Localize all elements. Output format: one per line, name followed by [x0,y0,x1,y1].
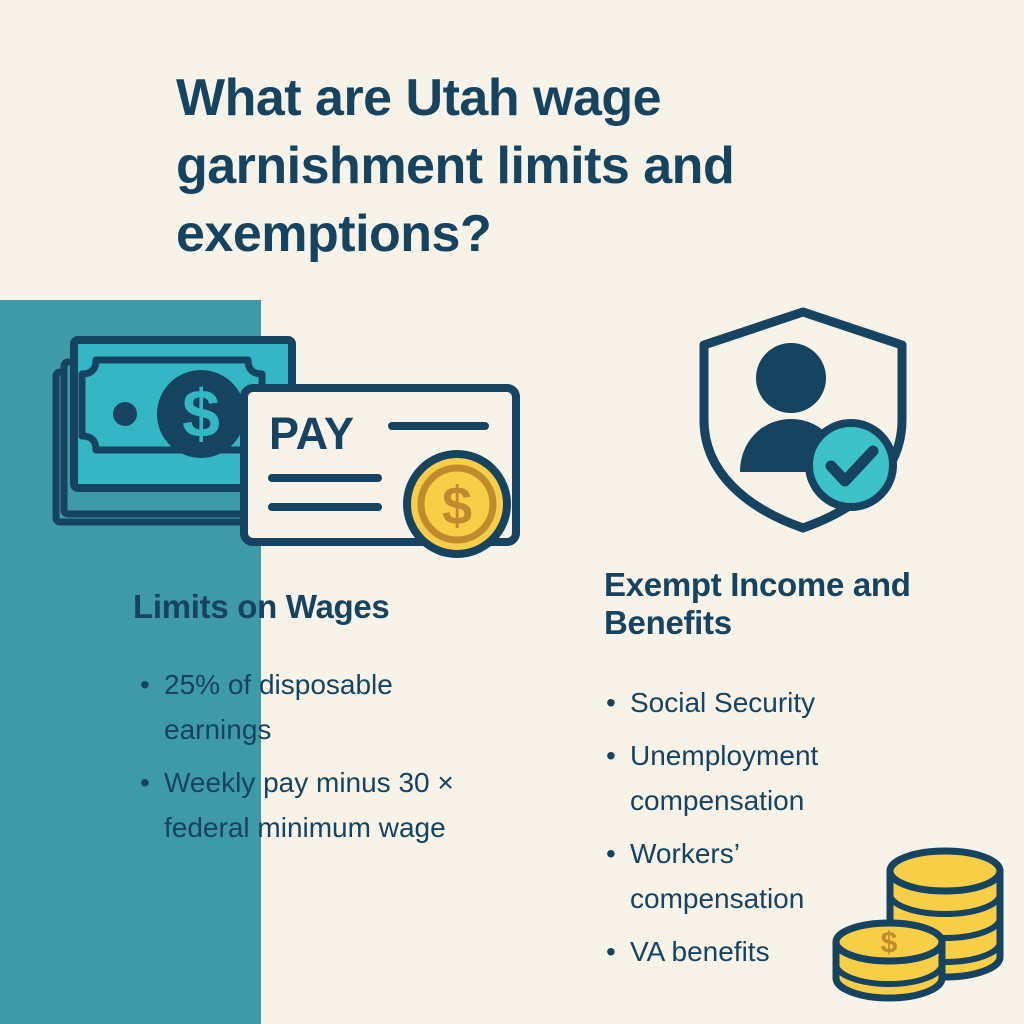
check-badge-circle [809,423,893,507]
list-item: Social Security [602,680,902,725]
section-heading-limits-on-wages: Limits on Wages [133,588,533,626]
page-title: What are Utah wage garnishment limits an… [176,64,896,268]
banknote-dollar-symbol: $ [182,376,220,452]
list-item: VA benefits [602,929,902,974]
person-head [756,343,826,413]
limits-on-wages-bullet-list: 25% of disposable earnings Weekly pay mi… [136,662,476,858]
section-heading-exempt-income-and-benefits: Exempt Income and Benefits [604,566,984,642]
list-item: Unemployment compensation [602,733,902,823]
coin-dollar-symbol: $ [442,476,472,536]
exempt-income-bullet-list: Social Security Unemployment compensatio… [602,680,902,982]
shield-person-check-illustration [688,300,918,545]
list-item: Workers’ compensation [602,831,902,921]
infographic-canvas: What are Utah wage garnishment limits an… [0,0,1024,1024]
list-item: Weekly pay minus 30 × federal minimum wa… [136,760,476,850]
money-and-paycheck-illustration: $ PAY $ [52,332,532,567]
paycheck-pay-label: PAY [269,408,354,459]
list-item: 25% of disposable earnings [136,662,476,752]
gold-coin-icon: $ [407,454,507,554]
